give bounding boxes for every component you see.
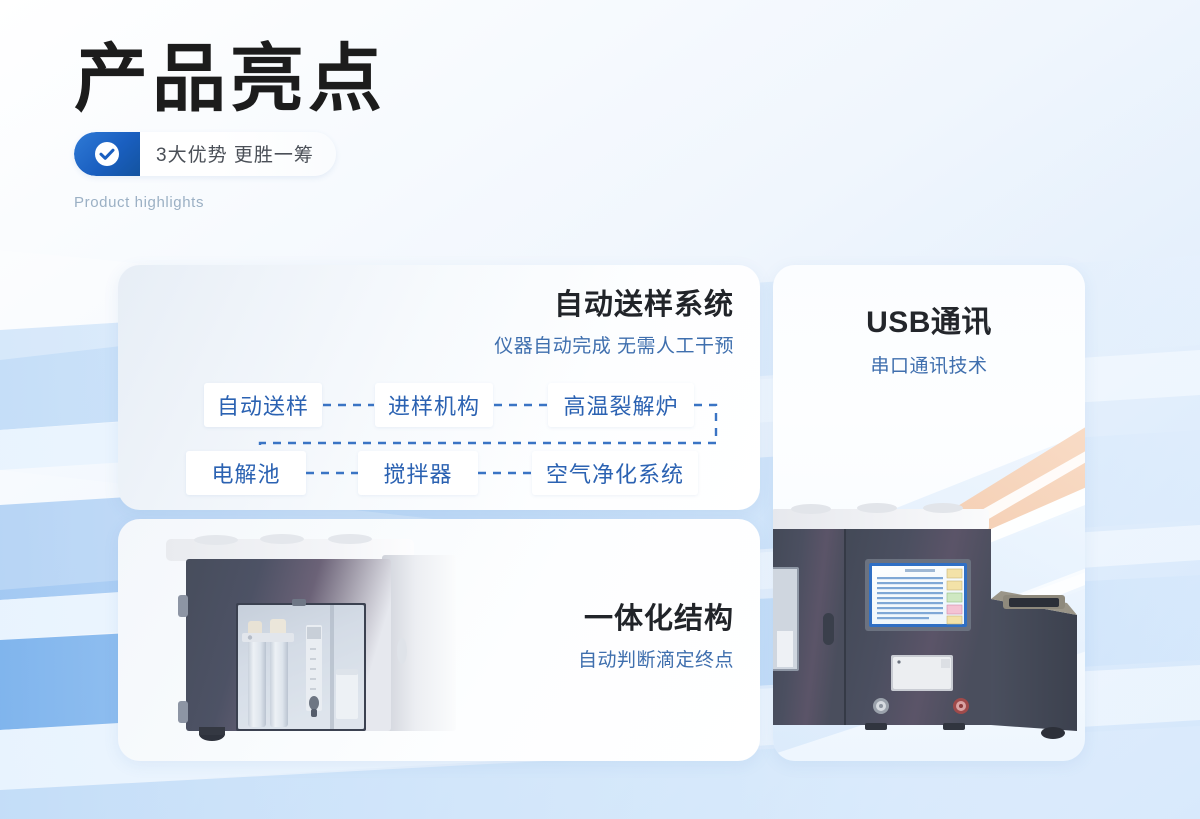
- flow-node-injection-mechanism[interactable]: 进样机构: [375, 383, 493, 427]
- sampling-flow-diagram: 自动送样 进样机构 高温裂解炉 电解池 搅拌器 空气净化系统: [118, 265, 760, 510]
- product-highlights-page: 产品亮点 3大优势 更胜一筹 Product highlights 自动送样系统…: [0, 0, 1200, 819]
- flow-node-label: 高温裂解炉: [563, 389, 678, 421]
- flow-node-auto-feed[interactable]: 自动送样: [204, 383, 322, 427]
- card-title: USB通讯: [773, 297, 1085, 341]
- flow-node-label: 进样机构: [388, 389, 480, 421]
- card-subtitle: 串口通讯技术: [773, 351, 1085, 378]
- advantage-badge: 3大优势 更胜一筹: [74, 132, 336, 176]
- card-auto-sampling: 自动送样系统 仪器自动完成 无需人工干预 自动送样: [118, 265, 760, 510]
- badge-label: 3大优势 更胜一筹: [140, 140, 336, 167]
- flow-node-electrolysis-cell[interactable]: 电解池: [186, 451, 306, 495]
- card-usb-communication: USB通讯 串口通讯技术: [773, 265, 1085, 761]
- card-integrated-structure-heading: 一体化结构 自动判断滴定终点: [578, 541, 734, 672]
- flow-node-air-purification[interactable]: 空气净化系统: [532, 451, 698, 495]
- flow-node-label: 自动送样: [217, 389, 309, 421]
- check-circle-icon: [74, 132, 140, 176]
- instrument-photo-front: [773, 503, 1085, 753]
- instrument-photo-side: [164, 533, 464, 748]
- flow-node-stirrer[interactable]: 搅拌器: [358, 451, 478, 495]
- flow-node-label: 搅拌器: [383, 457, 452, 489]
- page-subtitle-en: Product highlights: [74, 194, 714, 211]
- card-usb-heading: USB通讯 串口通讯技术: [773, 297, 1085, 378]
- card-title: 一体化结构: [578, 601, 734, 637]
- flow-node-label: 空气净化系统: [546, 457, 684, 489]
- flow-node-label: 电解池: [211, 457, 280, 489]
- card-integrated-structure: 一体化结构 自动判断滴定终点: [118, 519, 760, 761]
- card-subtitle: 自动判断滴定终点: [578, 645, 734, 672]
- flow-node-pyrolysis-furnace[interactable]: 高温裂解炉: [548, 383, 694, 427]
- page-header: 产品亮点 3大优势 更胜一筹 Product highlights: [74, 40, 714, 211]
- page-title: 产品亮点: [74, 40, 714, 120]
